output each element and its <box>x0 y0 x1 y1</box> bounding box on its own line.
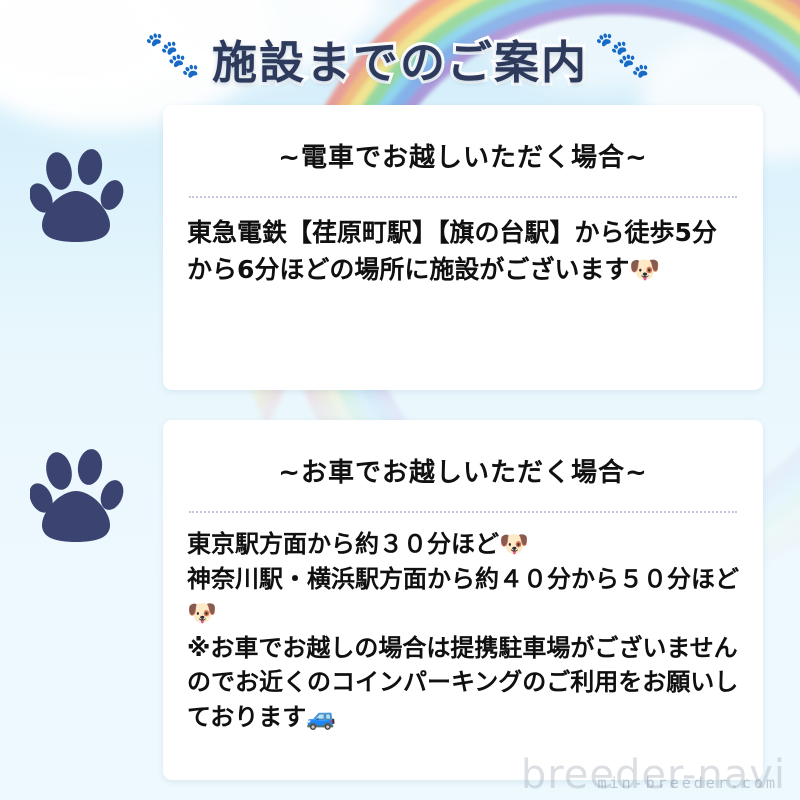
paw-print-icon-right: 🐾 🐾 <box>594 29 656 87</box>
car-card-line: 東京駅方面から約３０分ほど🐶 <box>187 527 739 562</box>
paw-print-car-icon <box>30 443 126 547</box>
train-card-heading: ~電車でお越しいただく場合~ <box>187 137 739 174</box>
car-card-body: 東京駅方面から約３０分ほど🐶 神奈川駅・横浜駅方面から約４０分から５０分ほど🐶 … <box>187 527 739 734</box>
paw-print-icon-left: 🐾 🐾 <box>144 29 206 87</box>
header-title-row: 🐾 🐾 施設までのご案内 🐾 🐾 <box>0 22 800 94</box>
card-divider <box>189 511 737 513</box>
page-title: 施設までのご案内 <box>212 26 588 91</box>
paw-print-train-icon <box>30 143 126 247</box>
facility-access-guide-page: 🐾 🐾 施設までのご案内 🐾 🐾 ~電車でお越しいただく場合~ <box>0 0 800 800</box>
car-access-card: ~お車でお越しいただく場合~ 東京駅方面から約３０分ほど🐶 神奈川駅・横浜駅方面… <box>163 420 763 780</box>
car-card-heading: ~お車でお越しいただく場合~ <box>187 452 739 489</box>
card-divider <box>189 196 737 198</box>
paw-print-icon: 🐾 <box>617 51 651 79</box>
car-card-line: ※お車でお越しの場合は提携駐車場がございませんのでお近くのコインパーキングのご利… <box>187 631 739 735</box>
paw-print-icon: 🐾 <box>167 51 201 79</box>
train-card-body: 東急電鉄【荏原町駅】【旗の台駅】から徒歩5分から6分ほどの場所に施設がございます… <box>187 215 739 288</box>
train-access-card: ~電車でお越しいただく場合~ 東急電鉄【荏原町駅】【旗の台駅】から徒歩5分から6… <box>163 105 763 390</box>
car-card-line: 神奈川駅・横浜駅方面から約４０分から５０分ほど🐶 <box>187 562 739 631</box>
